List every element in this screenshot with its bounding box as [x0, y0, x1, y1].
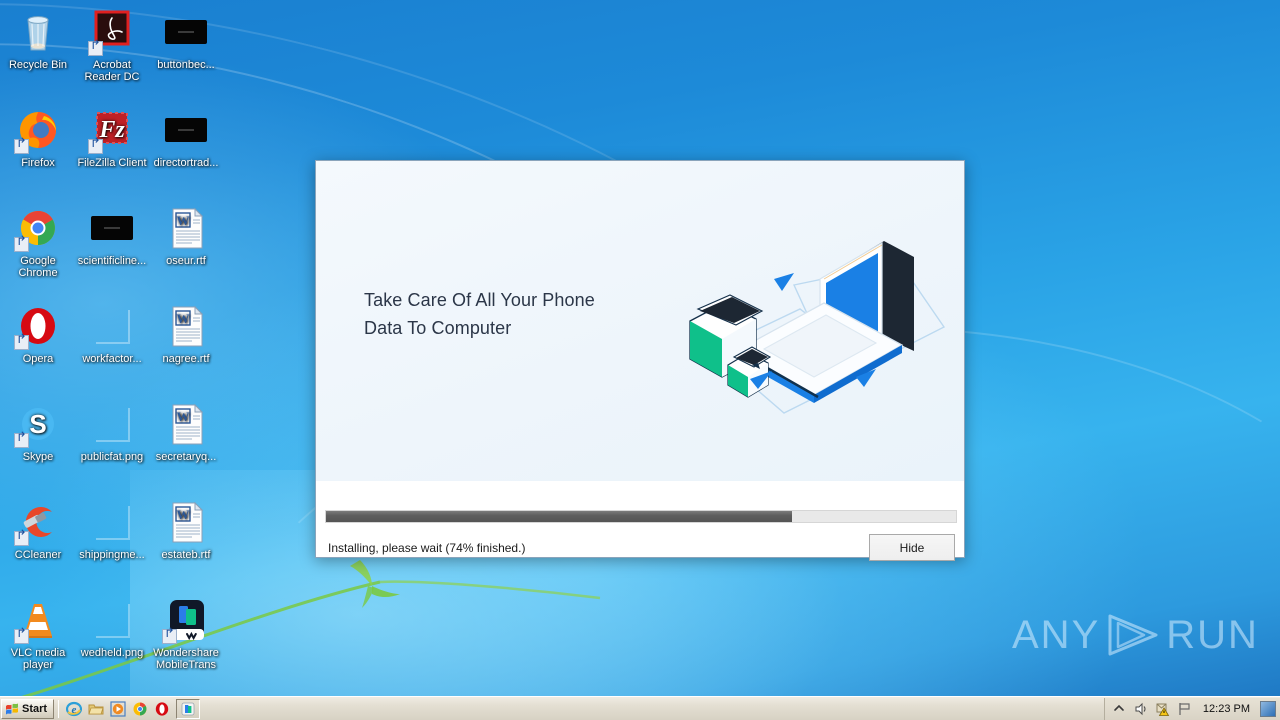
- headline-line-1: Take Care Of All Your Phone: [364, 286, 664, 314]
- desktop-icon-label: nagree.rtf: [148, 353, 224, 365]
- shortcut-overlay-icon: [14, 433, 29, 448]
- install-status-text: Installing, please wait (74% finished.): [328, 541, 525, 555]
- start-button-label: Start: [22, 703, 47, 715]
- blank-file-icon: [88, 302, 136, 350]
- svg-text:S: S: [29, 409, 46, 439]
- desktop-icon-label: Acrobat Reader DC: [74, 59, 150, 83]
- svg-text:W: W: [177, 213, 190, 228]
- desktop-icon-publicfat-png[interactable]: publicfat.png: [74, 400, 150, 463]
- watermark-left-text: ANY: [1012, 613, 1100, 658]
- acrobat-reader-icon: [88, 8, 136, 56]
- filezilla-icon: Fz: [88, 106, 136, 154]
- desktop-icon-opera[interactable]: Opera: [0, 302, 76, 365]
- desktop-icon-ccleaner[interactable]: CCleaner: [0, 498, 76, 561]
- opera-icon: [154, 701, 170, 717]
- desktop-icon-workfactor[interactable]: workfactor...: [74, 302, 150, 365]
- ccleaner-icon: [14, 498, 62, 546]
- taskbar[interactable]: Start e: [0, 696, 1280, 720]
- show-desktop-button[interactable]: [1260, 701, 1276, 717]
- play-triangle-icon: [1104, 612, 1162, 658]
- hide-button[interactable]: Hide: [869, 534, 955, 561]
- blank-file-icon: [88, 498, 136, 546]
- desktop-icon-vlc-media-player[interactable]: VLC media player: [0, 596, 76, 671]
- windows-explorer-icon: [88, 701, 104, 717]
- desktop-icon-wondershare-mobiletrans[interactable]: Wondershare MobileTrans: [148, 596, 224, 671]
- desktop-icon-scientificline[interactable]: scientificline...: [74, 204, 150, 267]
- chrome-icon: [132, 701, 148, 717]
- blank-file-icon: [88, 400, 136, 448]
- desktop-icon-secretaryq[interactable]: W secretaryq...: [148, 400, 224, 463]
- desktop-icon-estateb-rtf[interactable]: W estateb.rtf: [148, 498, 224, 561]
- shortcut-overlay-icon: [88, 139, 103, 154]
- rtf-document-icon: W: [162, 400, 210, 448]
- desktop-icon-label: wedheld.png: [74, 647, 150, 659]
- quicklaunch-opera[interactable]: [151, 699, 173, 719]
- desktop-icon-label: FileZilla Client: [74, 157, 150, 169]
- desktop-icon-label: workfactor...: [74, 353, 150, 365]
- installer-hero-panel: Take Care Of All Your Phone Data To Comp…: [316, 161, 964, 481]
- svg-text:W: W: [177, 409, 190, 424]
- desktop-icon-label: oseur.rtf: [148, 255, 224, 267]
- image-file-icon: [88, 204, 136, 252]
- desktop-icon-google-chrome[interactable]: Google Chrome: [0, 204, 76, 279]
- rtf-document-icon: W: [162, 498, 210, 546]
- shortcut-overlay-icon: [88, 41, 103, 56]
- firefox-icon: [14, 106, 62, 154]
- internet-explorer-icon: e: [66, 701, 82, 717]
- shortcut-overlay-icon: [14, 629, 29, 644]
- desktop-icon-shippingme[interactable]: shippingme...: [74, 498, 150, 561]
- media-player-icon: [110, 701, 126, 717]
- show-hidden-icons-icon[interactable]: [1111, 701, 1127, 717]
- vlc-icon: [14, 596, 62, 644]
- install-progress-bar: [325, 510, 957, 523]
- desktop-icon-buttonbec[interactable]: buttonbec...: [148, 8, 224, 71]
- svg-text:W: W: [177, 507, 190, 522]
- action-center-warning-icon[interactable]: [1155, 701, 1171, 717]
- windows-logo-icon: [5, 702, 19, 716]
- shortcut-overlay-icon: [162, 629, 177, 644]
- desktop-icon-label: CCleaner: [0, 549, 76, 561]
- opera-icon: [14, 302, 62, 350]
- image-file-icon: [162, 106, 210, 154]
- installer-headline: Take Care Of All Your Phone Data To Comp…: [364, 286, 664, 342]
- install-progress-fill: [326, 511, 792, 522]
- desktop-icon-oseur-rtf[interactable]: W oseur.rtf: [148, 204, 224, 267]
- desktop-icon-label: Firefox: [0, 157, 76, 169]
- wondershare-mobiletrans-icon: [181, 702, 195, 716]
- rtf-document-icon: W: [162, 302, 210, 350]
- taskbar-separator: [58, 700, 59, 718]
- shortcut-overlay-icon: [14, 139, 29, 154]
- quicklaunch-internet-explorer[interactable]: e: [63, 699, 85, 719]
- desktop-icon-label: shippingme...: [74, 549, 150, 561]
- desktop-icon-nagree-rtf[interactable]: W nagree.rtf: [148, 302, 224, 365]
- svg-text:e: e: [72, 704, 77, 716]
- recycle-bin-icon: [14, 8, 62, 56]
- desktop-icon-firefox[interactable]: Firefox: [0, 106, 76, 169]
- start-button[interactable]: Start: [1, 699, 54, 719]
- desktop-icon-directortrad[interactable]: directortrad...: [148, 106, 224, 169]
- svg-text:W: W: [177, 311, 190, 326]
- watermark-right-text: RUN: [1166, 613, 1259, 658]
- desktop-icon-label: directortrad...: [148, 157, 224, 169]
- desktop-icon-label: Opera: [0, 353, 76, 365]
- desktop-icon-filezilla-client[interactable]: Fz FileZilla Client: [74, 106, 150, 169]
- desktop-icon-label: Recycle Bin: [0, 59, 76, 71]
- desktop-icon-label: buttonbec...: [148, 59, 224, 71]
- laptop-phone-transfer-illustration: [676, 199, 946, 431]
- quicklaunch-windows-explorer[interactable]: [85, 699, 107, 719]
- shortcut-overlay-icon: [14, 335, 29, 350]
- desktop-icon-wedheld-png[interactable]: wedheld.png: [74, 596, 150, 659]
- wondershare-mobiletrans-icon: [162, 596, 210, 644]
- desktop-icon-acrobat-reader-dc[interactable]: Acrobat Reader DC: [74, 8, 150, 83]
- chrome-icon: [14, 204, 62, 252]
- desktop-icon-recycle-bin[interactable]: Recycle Bin: [0, 8, 76, 71]
- installer-progress-area: Installing, please wait (74% finished.) …: [316, 481, 964, 557]
- blank-file-icon: [88, 596, 136, 644]
- taskbar-button-wondershare-mobiletrans[interactable]: [176, 699, 200, 719]
- quicklaunch-media-player[interactable]: [107, 699, 129, 719]
- rtf-document-icon: W: [162, 204, 210, 252]
- desktop-icon-label: estateb.rtf: [148, 549, 224, 561]
- installer-window[interactable]: Take Care Of All Your Phone Data To Comp…: [315, 160, 965, 558]
- desktop-icon-label: Wondershare MobileTrans: [148, 647, 224, 671]
- anyrun-watermark: ANY RUN: [1012, 612, 1259, 658]
- desktop-icon-label: secretaryq...: [148, 451, 224, 463]
- desktop-icon-label: VLC media player: [0, 647, 76, 671]
- headline-line-2: Data To Computer: [364, 314, 664, 342]
- skype-icon: S: [14, 400, 62, 448]
- desktop-icon-label: Google Chrome: [0, 255, 76, 279]
- network-flag-icon[interactable]: [1177, 701, 1193, 717]
- quicklaunch-chrome[interactable]: [129, 699, 151, 719]
- desktop[interactable]: Recycle Bin Acrobat Reader DC buttonbec.…: [0, 0, 1280, 720]
- volume-icon[interactable]: [1133, 701, 1149, 717]
- desktop-icon-label: publicfat.png: [74, 451, 150, 463]
- shortcut-overlay-icon: [14, 237, 29, 252]
- image-file-icon: [162, 8, 210, 56]
- shortcut-overlay-icon: [14, 531, 29, 546]
- desktop-icon-label: scientificline...: [74, 255, 150, 267]
- system-tray[interactable]: 12:23 PM: [1104, 698, 1280, 720]
- desktop-icon-label: Skype: [0, 451, 76, 463]
- taskbar-clock[interactable]: 12:23 PM: [1199, 703, 1254, 715]
- desktop-icon-skype[interactable]: S Skype: [0, 400, 76, 463]
